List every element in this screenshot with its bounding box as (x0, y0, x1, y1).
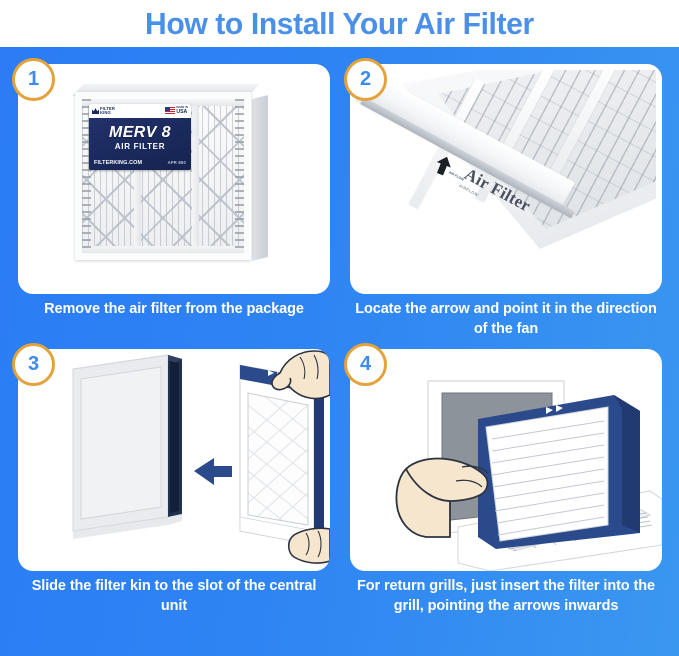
step-number-badge-2: 2 (344, 58, 387, 101)
page-title: How to Install Your Air Filter (145, 6, 534, 42)
title-band: How to Install Your Air Filter (0, 0, 679, 47)
step-caption-1: Remove the air filter from the package (18, 300, 330, 320)
apr-code-text: APR 850 (168, 160, 186, 165)
step-4-image-card (350, 349, 662, 571)
step-2-image-card: AIR FLOW Air Filter AIRFLOW (350, 64, 662, 294)
illustration-svg (350, 349, 662, 571)
brand-line-2: KING (100, 111, 115, 115)
step-1-image-card: FILTER KING MADE IN USA (18, 64, 330, 294)
grill-door (478, 395, 640, 549)
step-card-3: 3 Slide the filter kin to the slot of th… (18, 349, 330, 630)
step-caption-4: For return grills, just insert the filte… (350, 577, 662, 616)
label-header: FILTER KING MADE IN USA (89, 104, 191, 118)
country-code: USA (176, 109, 187, 115)
air-filter-product-photo: FILTER KING MADE IN USA (18, 64, 330, 294)
step-3-image-card (18, 349, 330, 571)
filter-side-face (252, 95, 268, 261)
step-number-badge-3: 3 (12, 343, 55, 386)
step-card-2: AIR FLOW Air Filter AIRFLOW 2 Locate the… (350, 64, 662, 345)
angled-filter-photo: AIR FLOW Air Filter AIRFLOW (356, 70, 656, 276)
return-grill-illustration (350, 349, 662, 571)
filter-king-logo: FILTER KING (92, 107, 115, 116)
filter-pleat-ticks (235, 99, 244, 253)
step-caption-3: Slide the filter kin to the slot of the … (18, 577, 330, 616)
website-text: FILTERKING.COM (94, 160, 142, 166)
pleated-air-filter: FILTER KING MADE IN USA (75, 92, 255, 264)
infographic-page: How to Install Your Air Filter (0, 0, 679, 656)
step-card-4: 4 For return grills, just insert the fil… (350, 349, 662, 630)
filter-support-bar (192, 99, 199, 253)
product-type-text: AIR FILTER (89, 142, 191, 151)
crown-icon (92, 108, 99, 114)
merv-rating: MERV 8 (89, 124, 191, 142)
product-label: FILTER KING MADE IN USA (89, 104, 191, 170)
step-number-badge-4: 4 (344, 343, 387, 386)
usa-flag-icon (165, 107, 175, 114)
slide-filter-illustration (18, 349, 330, 571)
direction-arrow-icon (194, 458, 232, 485)
country-text: MADE IN USA (176, 107, 188, 115)
label-footer: FILTERKING.COM APR 850 (94, 160, 186, 166)
step-number-badge-1: 1 (12, 58, 55, 101)
step-card-1: FILTER KING MADE IN USA (18, 64, 330, 345)
steps-grid: FILTER KING MADE IN USA (0, 47, 679, 656)
made-in-usa-mark: MADE IN USA (165, 107, 188, 115)
illustration-svg (18, 349, 330, 571)
central-unit-slot (73, 355, 182, 539)
filter-frame-edge (82, 246, 244, 253)
brand-name: FILTER KING (100, 107, 115, 116)
step-caption-2: Locate the arrow and point it in the dir… (350, 300, 662, 339)
